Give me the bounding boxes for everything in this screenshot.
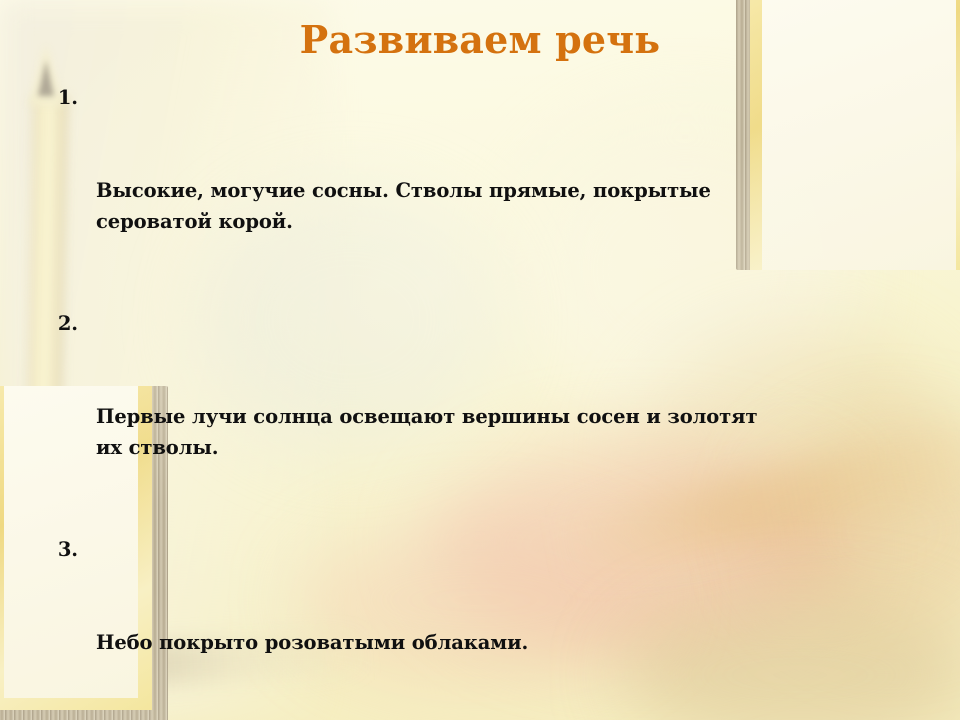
- slide-content: Развиваем речь 1. Высокие, могучие сосны…: [0, 0, 960, 720]
- list-item-number: 1.: [0, 82, 78, 113]
- list-item-number: 2.: [0, 308, 78, 339]
- page-title: Развиваем речь: [0, 17, 960, 62]
- list-item-text: Первые лучи солнца освещают вершины сосе…: [96, 401, 920, 463]
- list-item-text: Небо покрыто розоватыми облаками.: [96, 627, 920, 658]
- list-item: 3. Небо покрыто розоватыми облаками.: [0, 534, 920, 720]
- slide: Развиваем речь 1. Высокие, могучие сосны…: [0, 0, 960, 720]
- list-item-number: 3.: [0, 534, 78, 565]
- numbered-list: 1. Высокие, могучие сосны. Стволы прямые…: [0, 82, 920, 720]
- list-item-text: Высокие, могучие сосны. Стволы прямые, п…: [96, 175, 920, 237]
- list-item: 1. Высокие, могучие сосны. Стволы прямые…: [0, 82, 920, 299]
- list-item: 2. Первые лучи солнца освещают вершины с…: [0, 308, 920, 525]
